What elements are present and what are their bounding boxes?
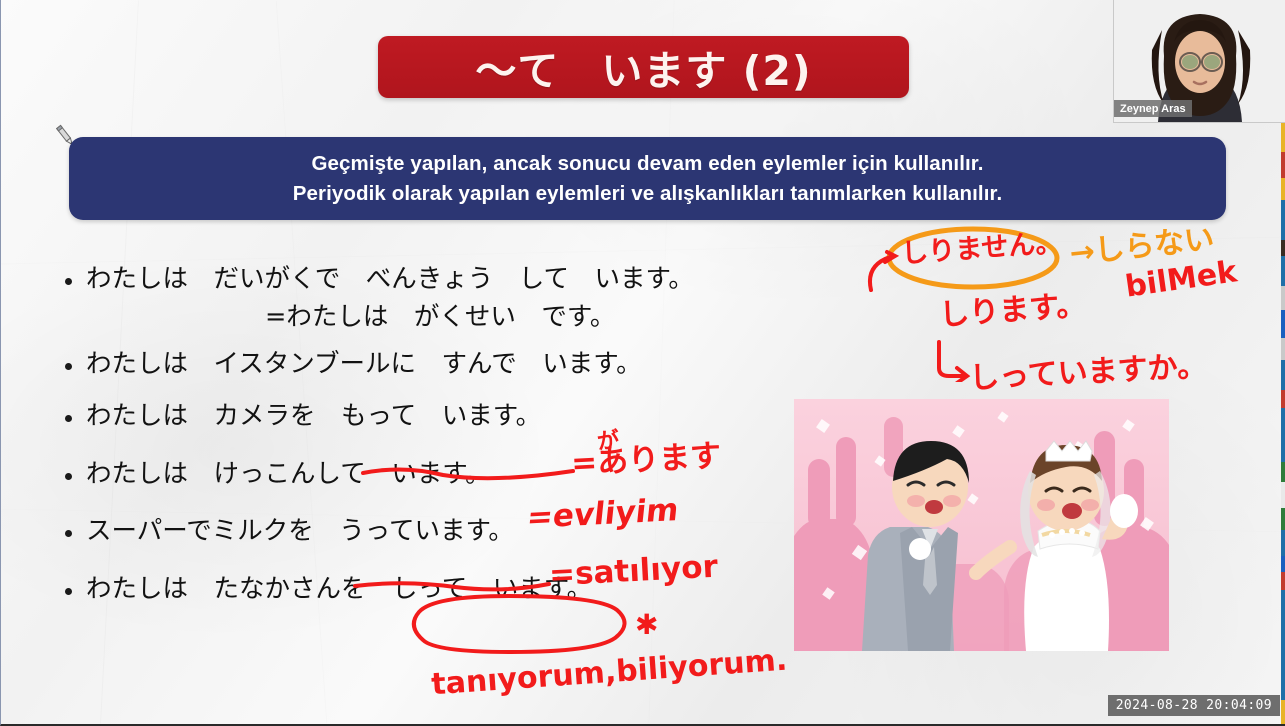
bullet-dot — [65, 415, 72, 422]
annotation-shirimasen: しりません。 — [900, 220, 1064, 270]
bullet-dot — [65, 588, 72, 595]
list-item: わたしは カメラを もって います。 — [65, 399, 785, 433]
example-equivalent: =わたしは がくせい です。 — [265, 300, 785, 334]
bullet-dot — [65, 473, 72, 480]
example-sentence: わたしは けっこんして います。 — [86, 457, 491, 491]
hook-arrow-mark — [929, 338, 975, 382]
annotation-taniyorum: tanıyorum,biliyorum. — [430, 643, 788, 703]
timestamp-badge: 2024-08-28 20:04:09 — [1108, 695, 1280, 716]
annotation-shiranai: →しらない — [1067, 214, 1216, 273]
example-sentence: わたしは だいがくで べんきょう して います。 — [86, 262, 694, 296]
list-item: わたしは けっこんして います。 — [65, 457, 785, 491]
rule-line-1: Geçmişte yapılan, ancak sonucu devam ede… — [311, 152, 983, 176]
edge-panel-sliver — [1281, 122, 1285, 724]
example-sentence: わたしは たなかさんを しって います。 — [86, 572, 592, 606]
list-item: わたしは だいがくで べんきょう して います。 — [65, 262, 785, 296]
annotation-bilmek: bilMek — [1123, 254, 1239, 304]
example-sentence: わたしは カメラを もって います。 — [86, 399, 541, 433]
list-item: スーパーでミルクを うっています。 — [65, 514, 785, 548]
slide-canvas: 〜て います (2) Geçmişte yapılan, ancak sonuc… — [0, 0, 1285, 726]
annotation-asterisk: ✱ — [635, 608, 658, 641]
bullet-dot — [65, 530, 72, 537]
annotation-shitteimasuka: しっていますか。 — [968, 341, 1208, 397]
example-list: わたしは だいがくで べんきょう して います。 =わたしは がくせい です。 … — [65, 262, 785, 606]
bullet-dot — [65, 278, 72, 285]
wedding-illustration — [794, 399, 1169, 651]
orange-circle-mark — [881, 222, 1071, 294]
page-title: 〜て います (2) — [475, 37, 811, 97]
example-sentence: スーパーでミルクを うっています。 — [86, 514, 514, 548]
rule-banner: Geçmişte yapılan, ancak sonucu devam ede… — [69, 137, 1226, 220]
slide-title-banner: 〜て います (2) — [378, 36, 909, 98]
arrow-mark — [861, 240, 901, 296]
list-item: わたしは たなかさんを しって います。 — [65, 572, 785, 606]
list-item: わたしは イスタンブールに すんで います。 — [65, 347, 785, 381]
participant-name-label: Zeynep Aras — [1114, 100, 1192, 117]
participant-video-tile[interactable]: Zeynep Aras — [1113, 0, 1285, 123]
bullet-dot — [65, 363, 72, 370]
rule-line-2: Periyodik olarak yapılan eylemleri ve al… — [293, 182, 1003, 206]
groom-figure — [794, 399, 1169, 651]
paper-crease — [1, 237, 1285, 265]
example-sentence: わたしは イスタンブールに すんで います。 — [86, 347, 642, 381]
annotation-shirimasu: しります。 — [938, 280, 1088, 334]
